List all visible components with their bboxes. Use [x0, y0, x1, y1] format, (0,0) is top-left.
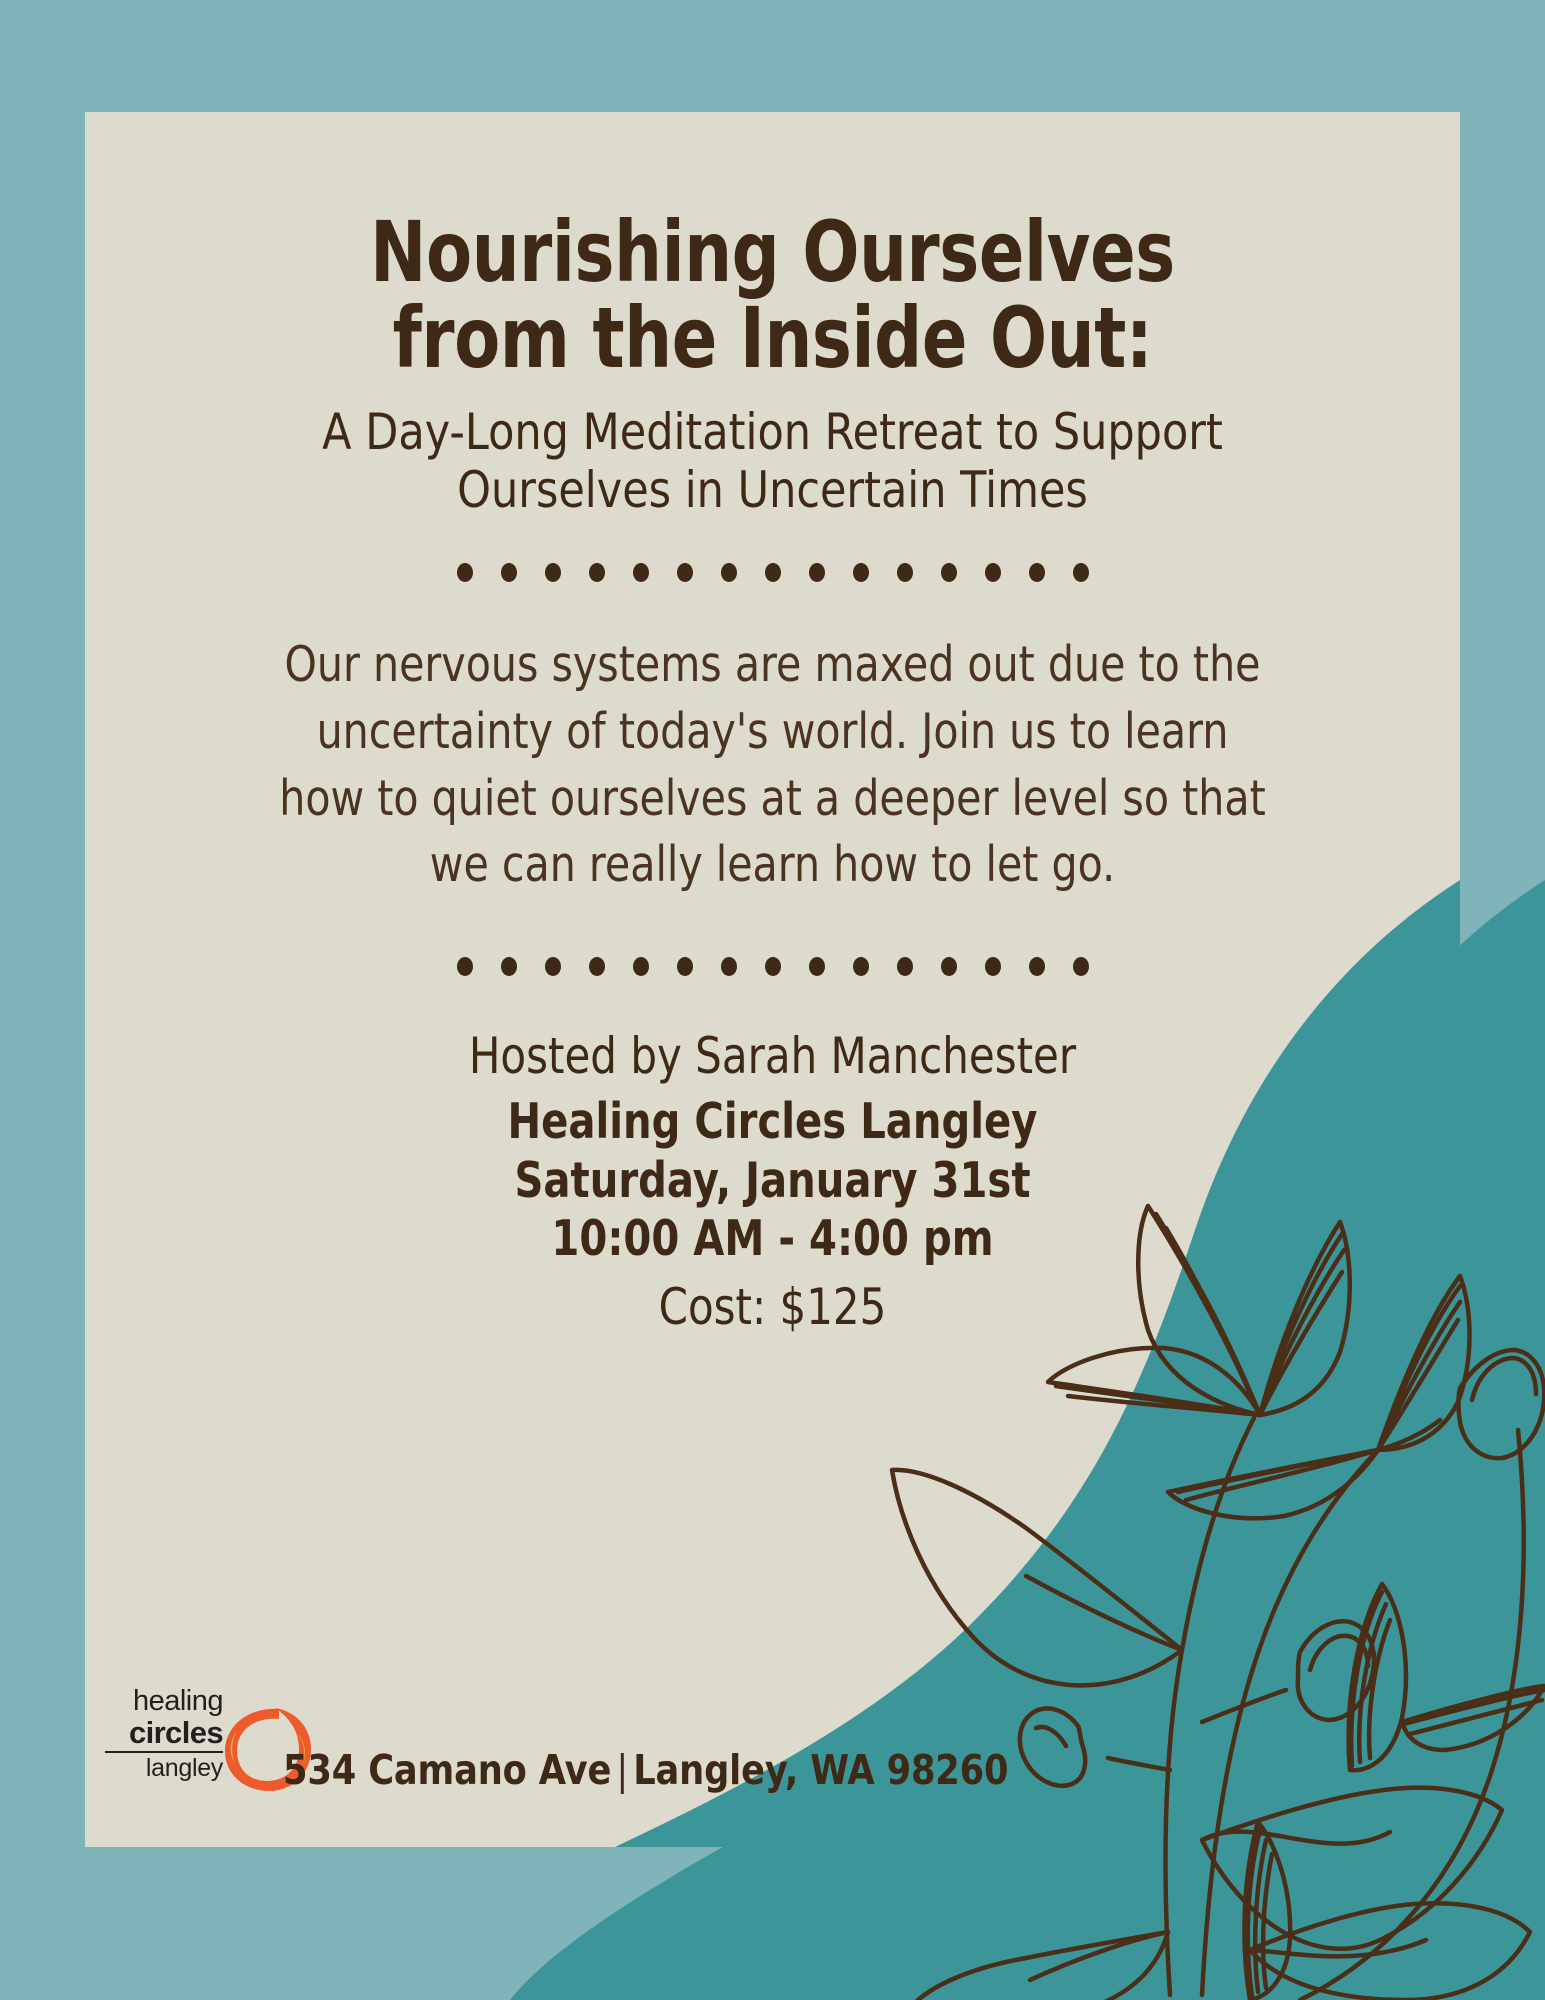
date-line: Saturday, January 31st [209, 1152, 1337, 1211]
divider-dot [941, 563, 957, 582]
divider-dot [677, 957, 693, 976]
footer: healing circles langley 534 Camano Ave|L… [85, 1647, 1460, 1847]
divider-dot [589, 563, 605, 582]
address-line: 534 Camano Ave|Langley, WA 98260 [283, 1746, 1008, 1794]
divider-dot [1029, 563, 1045, 582]
venue-date-time-block: Healing Circles Langley Saturday, Januar… [209, 1093, 1337, 1269]
time-line: 10:00 AM - 4:00 pm [209, 1210, 1337, 1269]
body-paragraph: Our nervous systems are maxed out due to… [195, 632, 1350, 899]
divider-dot [941, 957, 957, 976]
body-line-2: uncertainty of today's world. Join us to… [254, 699, 1291, 766]
title-line-2: from the Inside Out: [271, 296, 1275, 382]
divider-dot [501, 563, 517, 582]
divider-dot [457, 563, 473, 582]
divider-dot [853, 563, 869, 582]
divider-dot [721, 957, 737, 976]
divider-dot [589, 957, 605, 976]
divider-dot [677, 563, 693, 582]
divider-dot [897, 563, 913, 582]
dot-divider-bottom [85, 957, 1460, 976]
body-line-1: Our nervous systems are maxed out due to… [254, 632, 1291, 699]
divider-dot [853, 957, 869, 976]
cost-line: Cost: $125 [195, 1277, 1350, 1337]
logo-word-healing: healing [105, 1687, 223, 1717]
logo-wordmark: healing circles langley [105, 1687, 223, 1782]
divider-dot [633, 957, 649, 976]
address-city-state-zip: Langley, WA 98260 [633, 1746, 1008, 1794]
poster-content: Nourishing Ourselves from the Inside Out… [85, 112, 1460, 1847]
dot-divider-top [85, 563, 1460, 582]
divider-dot [765, 563, 781, 582]
address-separator: | [611, 1746, 633, 1794]
divider-dot [545, 957, 561, 976]
logo-word-langley: langley [105, 1756, 223, 1782]
subtitle-line-1: A Day-Long Meditation Retreat to Support [276, 403, 1269, 461]
body-line-3: how to quiet ourselves at a deeper level… [254, 766, 1291, 833]
divider-dot [1073, 563, 1089, 582]
host-line: Hosted by Sarah Manchester [195, 1026, 1350, 1087]
divider-dot [765, 957, 781, 976]
flyer-poster: Nourishing Ourselves from the Inside Out… [0, 0, 1545, 2000]
title-line-1: Nourishing Ourselves [271, 210, 1275, 296]
divider-dot [501, 957, 517, 976]
logo-word-circles: circles [105, 1717, 223, 1749]
divider-dot [1029, 957, 1045, 976]
divider-dot [985, 957, 1001, 976]
divider-dot [1073, 957, 1089, 976]
divider-dot [633, 563, 649, 582]
divider-dot [897, 957, 913, 976]
logo-underline-rule [105, 1751, 223, 1753]
divider-dot [721, 563, 737, 582]
page-subtitle: A Day-Long Meditation Retreat to Support… [181, 403, 1364, 519]
divider-dot [545, 563, 561, 582]
divider-dot [985, 563, 1001, 582]
venue-line: Healing Circles Langley [209, 1093, 1337, 1152]
body-line-4: we can really learn how to let go. [254, 832, 1291, 899]
divider-dot [809, 957, 825, 976]
address-street: 534 Camano Ave [283, 1746, 611, 1794]
page-title: Nourishing Ourselves from the Inside Out… [223, 112, 1323, 381]
event-details: Hosted by Sarah Manchester Healing Circl… [85, 1026, 1460, 1337]
subtitle-line-2: Ourselves in Uncertain Times [276, 461, 1269, 519]
divider-dot [809, 563, 825, 582]
divider-dot [457, 957, 473, 976]
